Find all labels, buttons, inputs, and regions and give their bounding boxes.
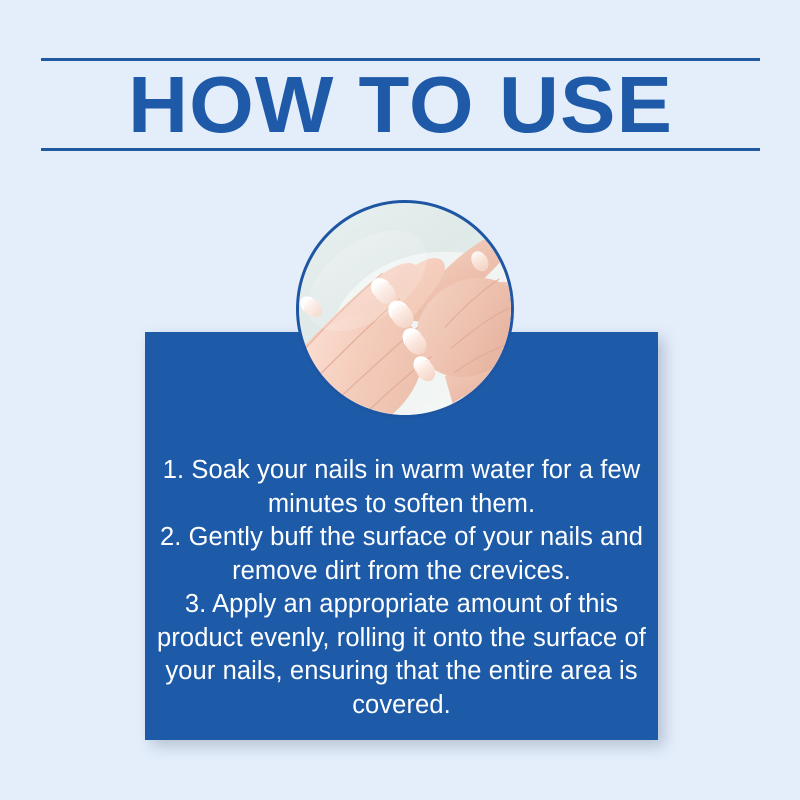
header: HOW TO USE bbox=[41, 58, 760, 151]
page-title: HOW TO USE bbox=[27, 61, 775, 148]
instruction-step-3: 3. Apply an appropriate amount of this p… bbox=[155, 588, 648, 722]
header-bottom-rule bbox=[41, 148, 760, 151]
instruction-step-2: 2. Gently buff the surface of your nails… bbox=[155, 521, 648, 588]
hands-photo bbox=[299, 203, 511, 415]
hands-photo-circle bbox=[296, 200, 514, 418]
instruction-step-1: 1. Soak your nails in warm water for a f… bbox=[155, 454, 648, 521]
how-to-use-poster: HOW TO USE 1. Soak your nails in warm wa… bbox=[0, 0, 800, 800]
hands-photo-illustration bbox=[299, 203, 511, 415]
instructions-list: 1. Soak your nails in warm water for a f… bbox=[155, 454, 648, 722]
